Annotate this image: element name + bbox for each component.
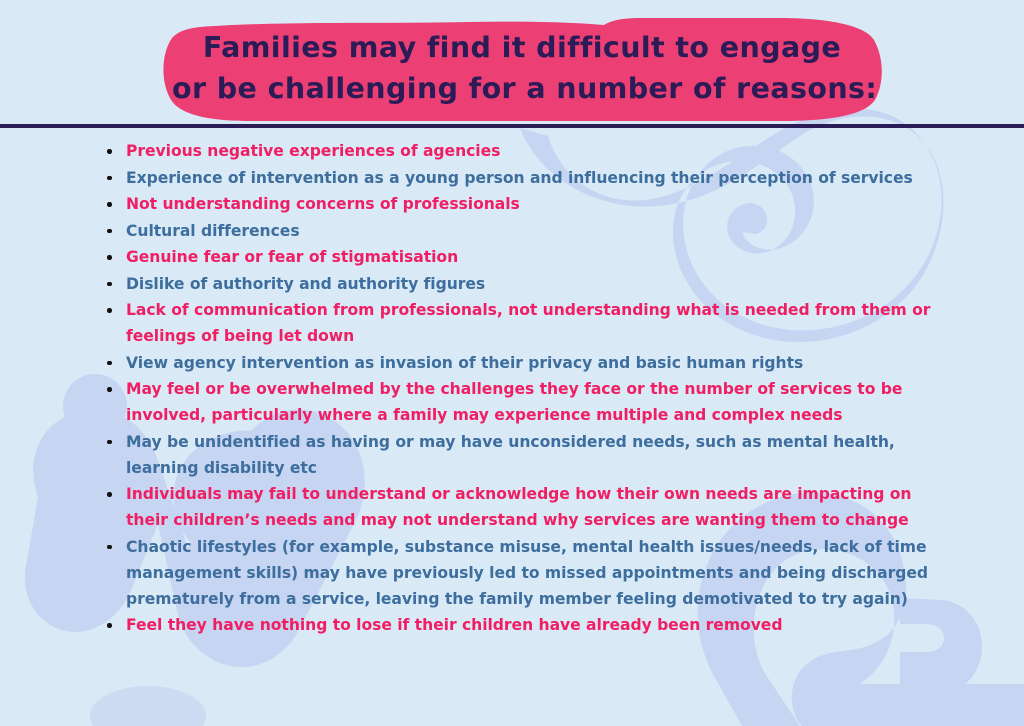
- title-line-2: or be challenging for a number of reason…: [172, 68, 872, 109]
- list-item: Dislike of authority and authority figur…: [100, 271, 940, 297]
- list-item: Lack of communication from professionals…: [100, 297, 940, 349]
- list-item: Chaotic lifestyles (for example, substan…: [100, 534, 940, 612]
- list-item: Genuine fear or fear of stigmatisation: [100, 244, 940, 270]
- list-item: Individuals may fail to understand or ac…: [100, 481, 940, 533]
- list-item: Feel they have nothing to lose if their …: [100, 612, 940, 638]
- list-item: View agency intervention as invasion of …: [100, 350, 940, 376]
- divider-rule: [0, 124, 1024, 128]
- reasons-list: Previous negative experiences of agencie…: [100, 138, 940, 639]
- title-text: Families may find it difficult to engage…: [172, 27, 872, 109]
- list-item: Not understanding concerns of profession…: [100, 191, 940, 217]
- list-item: Previous negative experiences of agencie…: [100, 138, 940, 164]
- title-banner: Families may find it difficult to engage…: [0, 0, 1024, 126]
- slide: Families may find it difficult to engage…: [0, 0, 1024, 726]
- list-item: Cultural differences: [100, 218, 940, 244]
- title-line-1: Families may find it difficult to engage: [172, 27, 872, 68]
- list-item: Experience of intervention as a young pe…: [100, 165, 940, 191]
- blob-shape-bottom-center: [90, 686, 206, 726]
- list-item: May be unidentified as having or may hav…: [100, 429, 940, 481]
- list-item: May feel or be overwhelmed by the challe…: [100, 376, 940, 428]
